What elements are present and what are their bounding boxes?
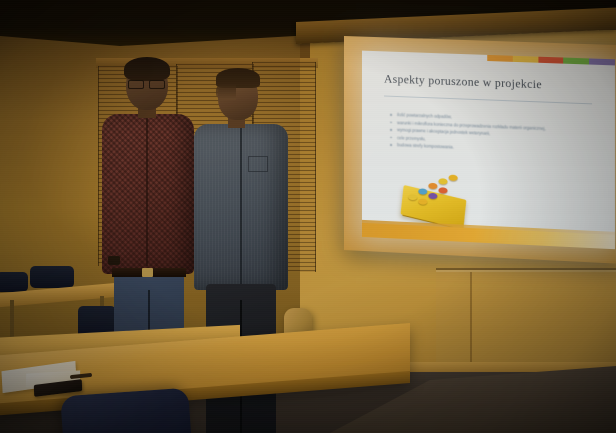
presenter-left-shirt-placket (146, 118, 148, 266)
presentation-slide: Aspekty poruszone w projekcie iloŝć powt… (362, 51, 615, 250)
accent-swatch-1 (487, 55, 512, 62)
radiator-seam (470, 272, 472, 364)
accent-swatch-5 (589, 58, 615, 65)
presenter-right-shirt-pocket (248, 156, 268, 172)
background-chair (0, 272, 28, 292)
presentation-room-photo: Aspekty poruszone w projekcie iloŝć powt… (0, 0, 616, 433)
slide-title: Aspekty poruszone w projekcie (384, 73, 542, 91)
presenter-right-hair-fade (216, 84, 236, 100)
presenter-right-shirt-placket (240, 128, 242, 284)
foreground-chair (60, 388, 192, 433)
slide-accent-bar (487, 55, 615, 66)
background-chair (30, 266, 74, 288)
lego-stud (418, 188, 427, 194)
lego-stud (438, 187, 447, 193)
presenter-left-shirt (102, 114, 194, 274)
lego-stud (428, 193, 437, 199)
presenter-left-hair (124, 57, 170, 81)
desk-leg (10, 300, 14, 340)
presenter-left-belt-buckle (142, 268, 153, 277)
accent-swatch-4 (564, 58, 590, 65)
slide-title-rule (384, 96, 592, 105)
lego-stud (438, 178, 447, 184)
radiator-panel (436, 268, 616, 366)
lego-stud (408, 194, 417, 200)
glasses-icon (128, 80, 165, 87)
slide-bullet-list: iloŝć powtarzalnych odpadów, warunki i m… (388, 112, 598, 158)
accent-swatch-2 (513, 56, 538, 63)
lego-stud (428, 183, 437, 189)
projector-screen: Aspekty poruszone w projekcie iloŝć powt… (344, 36, 616, 264)
presenter-left-wristwatch (108, 256, 120, 265)
lego-stud (449, 175, 458, 181)
lego-stud (418, 198, 427, 204)
accent-swatch-3 (538, 57, 564, 64)
